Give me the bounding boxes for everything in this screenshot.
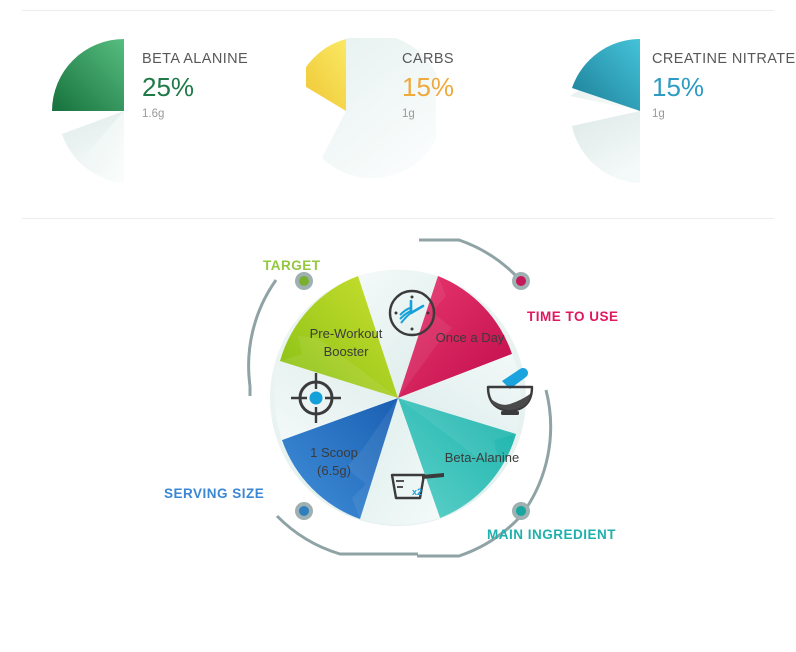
- callout-dot-time-to-use[interactable]: [512, 272, 530, 290]
- nutrition-stats-row: BETA ALANINE 25% 1.6g CARBS: [0, 38, 796, 203]
- stat-text-carbs: CARBS 15% 1g: [402, 52, 454, 121]
- stat-label: CARBS: [402, 52, 454, 67]
- wheel-segment-sublabel: Booster: [324, 344, 369, 359]
- clock-icon: [390, 291, 434, 335]
- stat-grams: 1g: [652, 109, 796, 121]
- wheel-segment-label: Pre-Workout: [310, 326, 383, 341]
- stat-percent: 25%: [142, 73, 248, 103]
- product-attribute-wheel: Once a Day Beta-Alanine 1 Scoop (6.5g): [0, 228, 796, 652]
- pie-chart-creatine-nitrate: [566, 38, 654, 188]
- stat-percent: 15%: [652, 73, 796, 103]
- wheel-segment-label: Once a Day: [436, 330, 505, 345]
- top-divider: [22, 10, 774, 11]
- wheel-segment-sublabel: (6.5g): [317, 463, 351, 478]
- stat-label: BETA ALANINE: [142, 52, 248, 67]
- pie-chart-beta-alanine: [44, 38, 132, 188]
- callout-label-target: TARGET: [263, 258, 321, 273]
- scoop-badge-label: x2: [412, 487, 422, 497]
- wheel-segment-label: Beta-Alanine: [445, 450, 519, 465]
- callout-label-time-to-use: TIME TO USE: [527, 309, 619, 324]
- stat-grams: 1g: [402, 109, 454, 121]
- section-divider: [22, 218, 774, 219]
- callout-dot-main-ingredient[interactable]: [512, 502, 530, 520]
- stat-percent: 15%: [402, 73, 454, 103]
- callout-dot-target[interactable]: [295, 272, 313, 290]
- callout-label-main-ingredient: MAIN INGREDIENT: [487, 527, 616, 542]
- stat-text-beta-alanine: BETA ALANINE 25% 1.6g: [142, 52, 248, 121]
- wheel-segment-label: 1 Scoop: [310, 445, 358, 460]
- callout-label-serving-size: SERVING SIZE: [164, 486, 264, 501]
- callout-dot-serving-size[interactable]: [295, 502, 313, 520]
- stat-label: CREATINE NITRATE: [652, 52, 796, 67]
- stat-grams: 1.6g: [142, 109, 248, 121]
- stat-text-creatine-nitrate: CREATINE NITRATE 15% 1g: [652, 52, 796, 121]
